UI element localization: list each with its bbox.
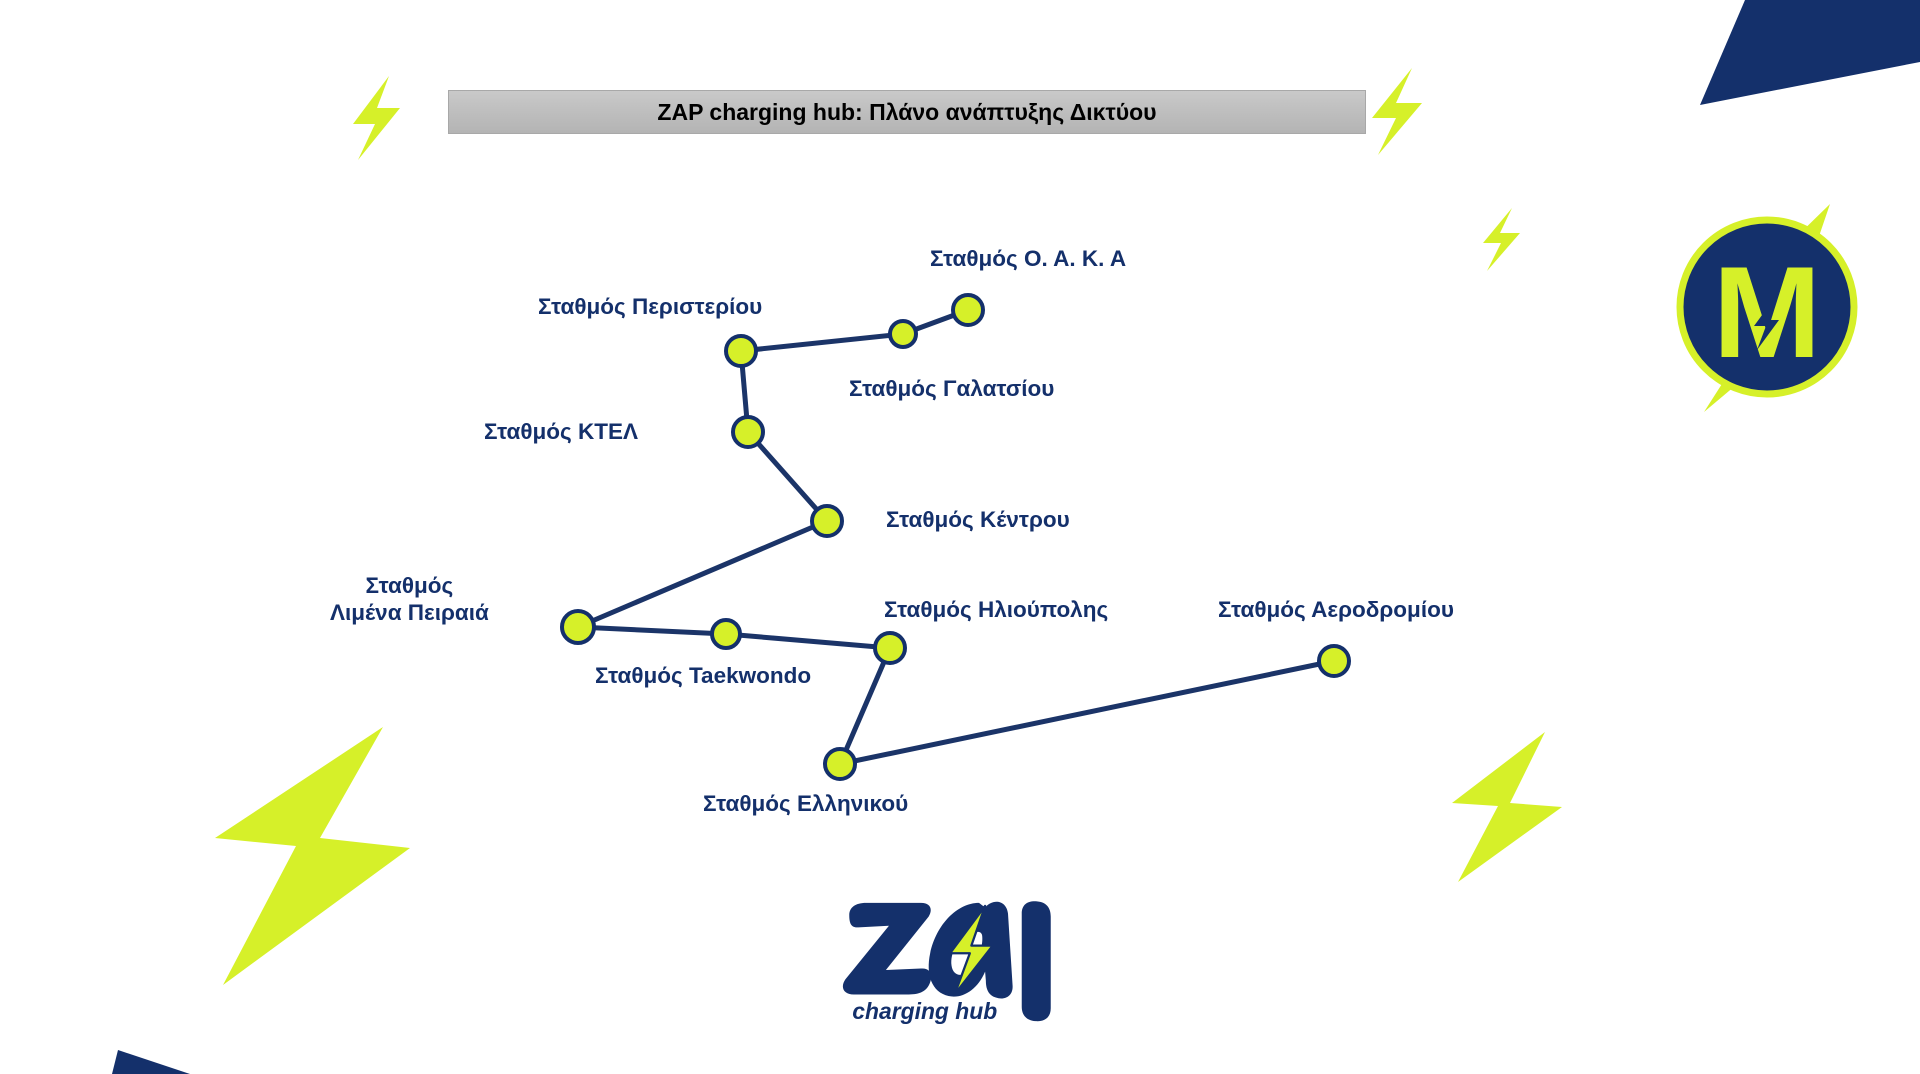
station-node-kentro[interactable] xyxy=(812,506,842,536)
station-node-taekwondo[interactable] xyxy=(712,620,740,648)
station-label-galatsi: Σταθμός Γαλατσίου xyxy=(849,375,1054,402)
network-edge xyxy=(840,661,1334,764)
station-node-piraeus[interactable] xyxy=(562,611,594,643)
station-label-oaka: Σταθμός Ο. Α. Κ. Α xyxy=(930,245,1126,272)
m-badge-logo: M xyxy=(1660,200,1875,415)
network-nodes xyxy=(562,295,1349,779)
zap-tagline: charging hub xyxy=(852,998,997,1024)
slide-canvas: ZAP charging hub: Πλάνο ανάπτυξης Δικτύο… xyxy=(0,0,1920,1074)
station-node-galatsi[interactable] xyxy=(890,321,916,347)
station-node-peristeri[interactable] xyxy=(726,336,756,366)
station-label-taekwondo: Σταθμός Taekwondo xyxy=(595,662,811,689)
station-label-ilioupoli: Σταθμός Ηλιούπολης xyxy=(884,596,1108,623)
station-label-airport: Σταθμός Αεροδρομίου xyxy=(1218,596,1454,623)
station-label-kentro: Σταθμός Κέντρου xyxy=(886,506,1070,533)
network-edge xyxy=(748,432,827,521)
network-edge xyxy=(726,634,890,648)
network-edge xyxy=(578,521,827,627)
station-node-airport[interactable] xyxy=(1319,646,1349,676)
network-edge xyxy=(741,334,903,351)
station-label-peristeri: Σταθμός Περιστερίου xyxy=(538,293,762,320)
station-node-ilioupoli[interactable] xyxy=(875,633,905,663)
zap-logo: charging hub xyxy=(835,880,1065,1025)
network-edge xyxy=(840,648,890,764)
network-edge xyxy=(578,627,726,634)
station-node-ktel[interactable] xyxy=(733,417,763,447)
station-label-elliniko: Σταθμός Ελληνικού xyxy=(703,790,908,817)
station-node-oaka[interactable] xyxy=(953,295,983,325)
station-node-elliniko[interactable] xyxy=(825,749,855,779)
station-label-piraeus: Σταθμός Λιμένα Πειραιά xyxy=(330,572,489,627)
station-label-ktel: Σταθμός ΚΤΕΛ xyxy=(484,418,638,445)
